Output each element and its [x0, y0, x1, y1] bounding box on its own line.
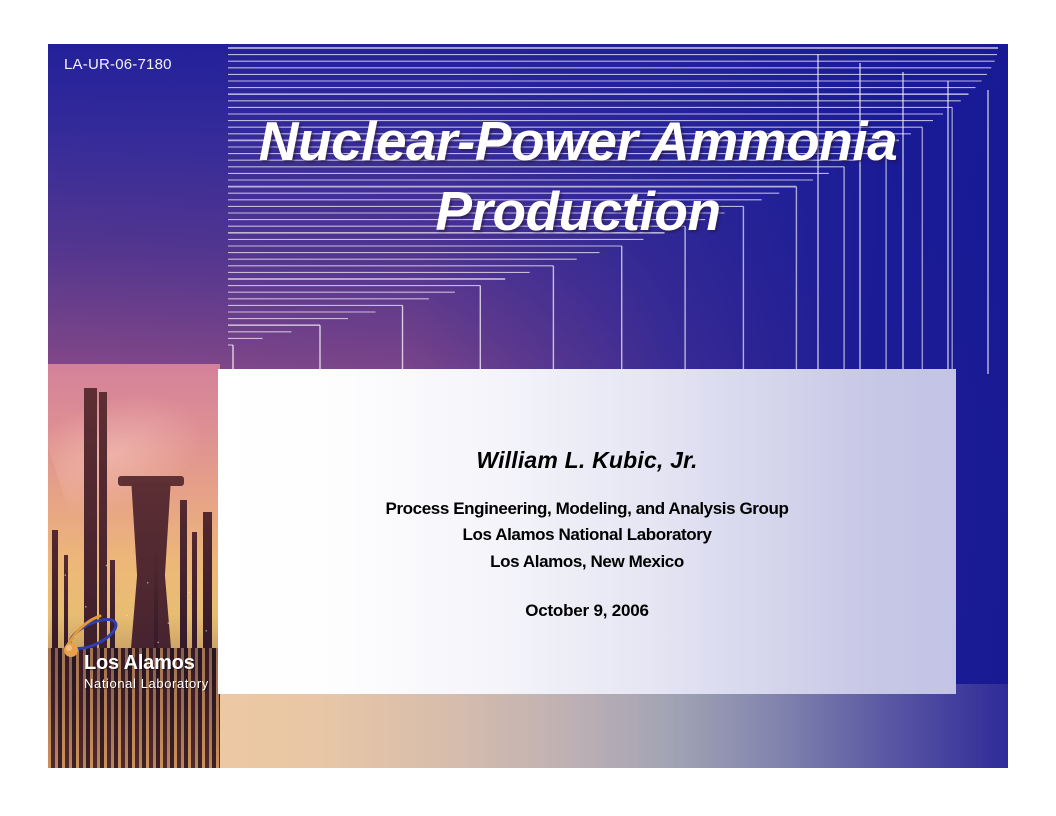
logo-wordmark: Los Alamos National Laboratory [84, 652, 209, 691]
presentation-slide: LA-UR-06-7180 Nuclear-Power Ammonia Prod… [48, 44, 1008, 768]
content-panel: William L. Kubic, Jr. Process Engineerin… [218, 369, 956, 694]
logo-name: Los Alamos [84, 652, 209, 675]
presentation-date: October 9, 2006 [218, 601, 956, 621]
title-line-1: Nuclear-Power Ammonia [198, 106, 958, 176]
affiliation-line-lab: Los Alamos National Laboratory [218, 522, 956, 548]
logo-subtitle: National Laboratory [84, 676, 209, 691]
affiliation-line-city: Los Alamos, New Mexico [218, 549, 956, 575]
affiliation-line-group: Process Engineering, Modeling, and Analy… [218, 496, 956, 522]
slide-title: Nuclear-Power Ammonia Production [198, 106, 958, 247]
los-alamos-logo: Los Alamos National Laboratory [54, 614, 220, 690]
bottom-gradient-band [220, 684, 1008, 768]
report-number: LA-UR-06-7180 [64, 56, 172, 73]
title-line-2: Production [198, 176, 958, 246]
industrial-plant-photo [48, 364, 220, 768]
affiliation-block: Process Engineering, Modeling, and Analy… [218, 496, 956, 575]
panel-text-block: William L. Kubic, Jr. Process Engineerin… [218, 447, 956, 621]
author-name: William L. Kubic, Jr. [218, 447, 956, 474]
